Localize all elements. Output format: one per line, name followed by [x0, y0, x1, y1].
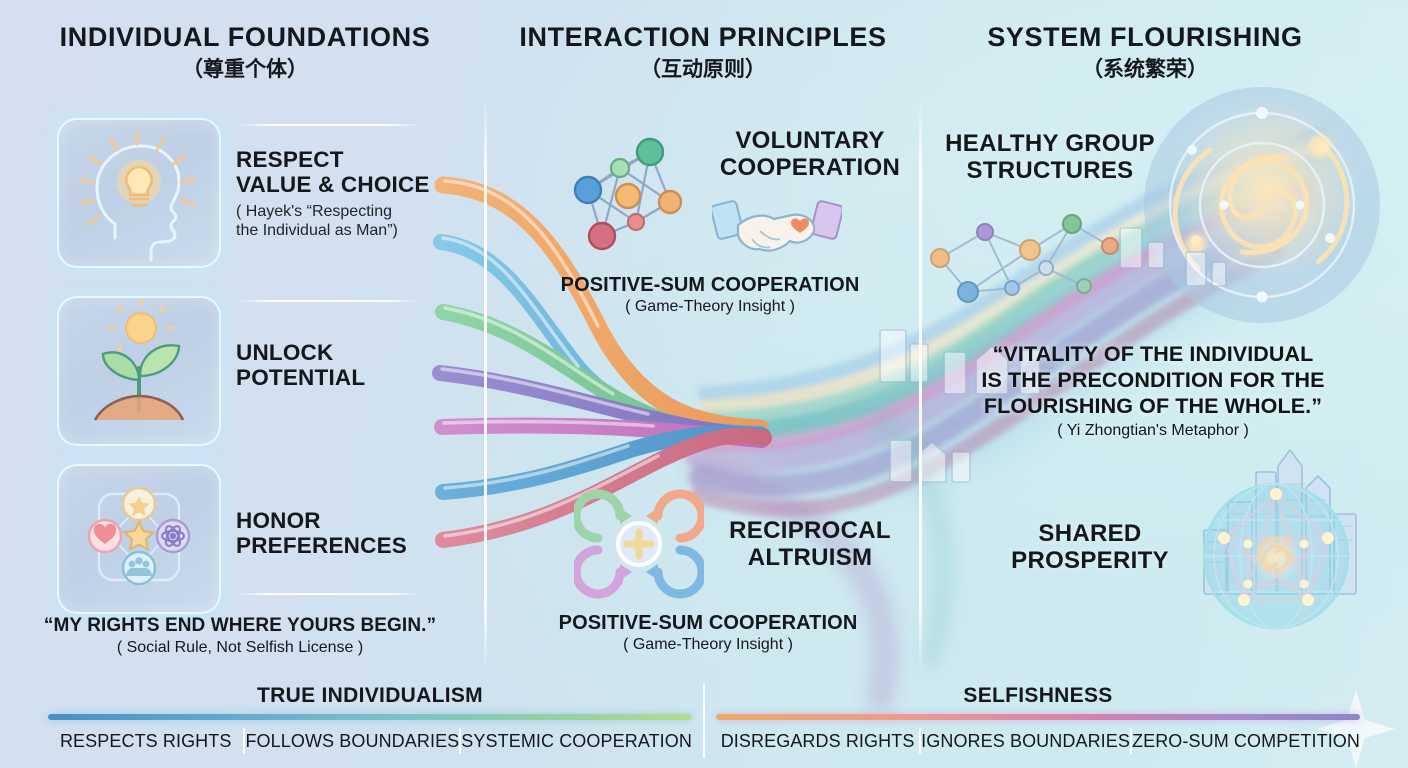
bottom-label-true-individualism: TRUE INDIVIDUALISM: [48, 684, 692, 708]
bottom-tag: IGNORES BOUNDARIES: [921, 731, 1130, 752]
bottom-label-selfishness: SELFISHNESS: [716, 684, 1360, 708]
bottom-tags-left: RESPECTS RIGHTS FOLLOWS BOUNDARIES SYSTE…: [48, 728, 692, 754]
hairline-3: [236, 593, 421, 595]
sprout-sun-icon: [59, 298, 219, 444]
divider-left-middle: [484, 98, 487, 672]
column-header-individual-foundations: INDIVIDUAL FOUNDATIONS （尊重个体）: [20, 24, 470, 83]
row-title: UNLOCK POTENTIAL: [236, 340, 466, 391]
mid-caption-note: ( Game-Theory Insight ): [510, 298, 910, 316]
quote-line-2: IS THE PRECONDITION FOR THE: [958, 367, 1348, 393]
column-header-interaction-principles: INTERACTION PRINCIPLES （互动原则）: [483, 24, 923, 83]
mid-caption-note: ( Game-Theory Insight ): [508, 636, 908, 654]
bottom-bar-gradient-left: [48, 714, 692, 720]
bottom-tag: SYSTEMIC COOPERATION: [461, 731, 692, 752]
bottom-group-true-individualism: TRUE INDIVIDUALISM RESPECTS RIGHTS FOLLO…: [48, 684, 692, 764]
bottom-bar-gradient-right: [716, 714, 1360, 720]
left-quote-block: “MY RIGHTS END WHERE YOURS BEGIN.” ( Soc…: [10, 615, 470, 657]
mid-caption-main: POSITIVE-SUM COOPERATION: [510, 274, 910, 297]
column-header-system-flourishing: SYSTEM FLOURISHING （系统繁荣）: [925, 24, 1365, 83]
quote-line-3: FLOURISHING OF THE WHOLE.”: [958, 393, 1348, 419]
bottom-divider: [703, 684, 705, 758]
column-title-zh: （系统繁荣）: [925, 55, 1365, 83]
quote-attribution: ( Yi Zhongtian's Metaphor ): [958, 422, 1348, 440]
column-title-en: INTERACTION PRINCIPLES: [483, 24, 923, 52]
divider-middle-right: [919, 98, 922, 672]
hairline-2: [236, 300, 421, 302]
city-globe-network-icon: [1186, 438, 1366, 634]
infographic-canvas: INDIVIDUAL FOUNDATIONS （尊重个体） INTERACTIO…: [0, 0, 1408, 768]
right-big-quote: “VITALITY OF THE INDIVIDUAL IS THE PRECO…: [958, 341, 1348, 440]
mid-caption-main: POSITIVE-SUM COOPERATION: [508, 612, 908, 635]
bottom-tag: FOLLOWS BOUNDARIES: [245, 731, 459, 752]
row-text-respect-value-choice: RESPECT VALUE & CHOICE ( Hayek's “Respec…: [236, 147, 466, 240]
row-text-honor-preferences: HONOR PREFERENCES: [236, 508, 466, 559]
row-subtitle: ( Hayek's “Respecting the Individual as …: [236, 202, 466, 240]
hairline-1: [236, 124, 421, 126]
column-title-en: SYSTEM FLOURISHING: [925, 24, 1365, 52]
glowing-head-lightbulb-icon: [59, 120, 219, 266]
left-quote: “MY RIGHTS END WHERE YOURS BEGIN.”: [10, 615, 470, 637]
row-title: RESPECT VALUE & CHOICE: [236, 147, 466, 198]
tile-honor-preferences[interactable]: [57, 464, 221, 614]
preferences-network-star-icon: [59, 466, 219, 612]
tile-respect-value-choice[interactable]: [57, 118, 221, 268]
bottom-tag: DISREGARDS RIGHTS: [716, 731, 919, 752]
quote-line-1: “VITALITY OF THE INDIVIDUAL: [958, 341, 1348, 367]
column-title-en: INDIVIDUAL FOUNDATIONS: [20, 24, 470, 52]
bottom-group-selfishness: SELFISHNESS DISREGARDS RIGHTS IGNORES BO…: [716, 684, 1360, 764]
tile-unlock-potential[interactable]: [57, 296, 221, 446]
row-title: HONOR PREFERENCES: [236, 508, 466, 559]
left-quote-caption: ( Social Rule, Not Selfish License ): [10, 639, 470, 657]
handshake-heart-icon: [712, 195, 842, 265]
row-text-unlock-potential: UNLOCK POTENTIAL: [236, 340, 466, 391]
right-title-healthy-group-structures: HEALTHY GROUP STRUCTURES: [935, 130, 1165, 185]
mid-title-voluntary-cooperation: VOLUNTARY COOPERATION: [700, 128, 920, 182]
bottom-tags-right: DISREGARDS RIGHTS IGNORES BOUNDARIES ZER…: [716, 728, 1360, 754]
node-network-icon: [562, 130, 702, 270]
bottom-tag: RESPECTS RIGHTS: [48, 731, 243, 752]
reciprocal-arrows-plus-icon: [574, 486, 704, 602]
right-title-shared-prosperity: SHARED PROSPERITY: [980, 520, 1200, 575]
column-title-zh: （尊重个体）: [20, 55, 470, 83]
mid-caption-cooperation-top: POSITIVE-SUM COOPERATION ( Game-Theory I…: [510, 274, 910, 316]
mid-title-reciprocal-altruism: RECIPROCAL ALTRUISM: [700, 518, 920, 572]
column-title-zh: （互动原则）: [483, 55, 923, 83]
mid-caption-cooperation-bottom: POSITIVE-SUM COOPERATION ( Game-Theory I…: [508, 612, 908, 654]
bottom-tag: ZERO-SUM COMPETITION: [1132, 731, 1360, 752]
